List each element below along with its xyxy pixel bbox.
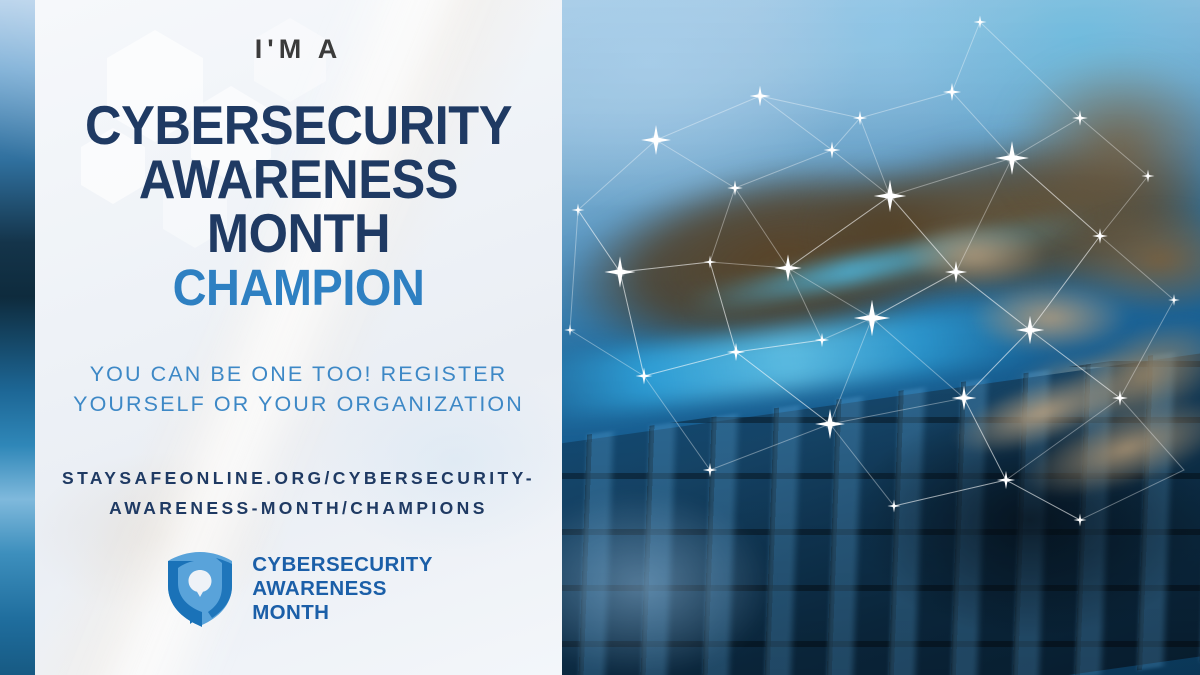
wordmark-line-2: AWARENESS [252,577,387,600]
headline-line-3-champion: CHAMPION [56,263,541,313]
subhead-text: YOU CAN BE ONE TOO! REGISTER YOURSELF OR… [64,359,534,420]
wordmark-line-1: CYBERSECURITY [252,553,433,576]
eyebrow-text: I'M A [255,36,342,63]
left-edge-accent-strip [0,0,35,675]
champion-poster: 32 5 18 [0,0,1200,675]
wordmark-line-3: MONTH [252,601,329,624]
keyboard-hands-photo: 32 5 18 [560,0,1200,675]
headline-line-2: AWARENESS MONTH [139,148,458,264]
cybersecurity-awareness-month-logo: CYBERSECURITY AWARENESS MONTH [164,550,433,628]
page-title: CYBERSECURITY AWARENESS MONTH CHAMPION [56,99,541,313]
registration-url[interactable]: STAYSAFEONLINE.ORG/CYBERSECURITY- AWAREN… [62,463,535,524]
logo-wordmark: CYBERSECURITY AWARENESS MONTH [252,553,433,626]
shield-logo-icon [164,550,236,628]
url-line-1: STAYSAFEONLINE.ORG/CYBERSECURITY- [62,468,535,488]
poster-content: I'M A CYBERSECURITY AWARENESS MONTH CHAM… [35,0,562,675]
headline-line-1: CYBERSECURITY [85,94,512,156]
network-overlay [560,0,1200,675]
url-line-2: AWARENESS-MONTH/CHAMPIONS [109,498,488,518]
